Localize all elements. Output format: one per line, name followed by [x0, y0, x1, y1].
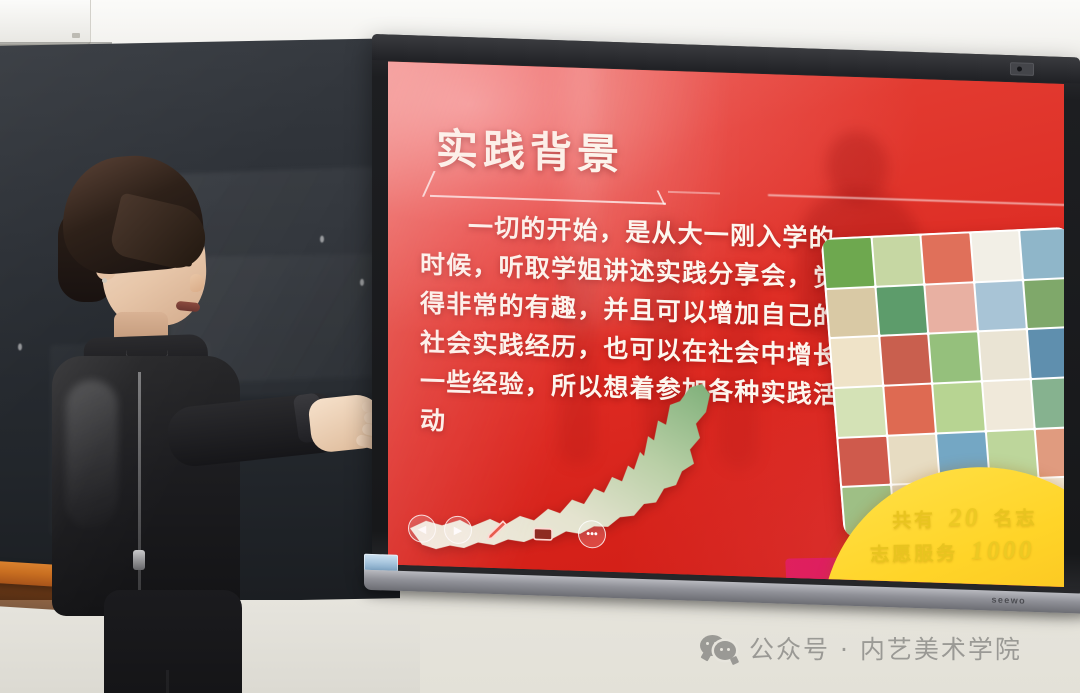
- interactive-smartboard[interactable]: 实践背景 一切的开始，是从大一刚入学的时候，听取学姐讲述实践分享会，觉得非常的有…: [372, 34, 1080, 617]
- wechat-icon: [700, 635, 740, 661]
- stat1-number: 20: [948, 502, 981, 532]
- slide-toolbar[interactable]: ◀ ▶ •••: [408, 512, 628, 553]
- chalk-mark: [360, 279, 364, 286]
- watermark-text: 公众号 · 内艺美术学院: [749, 630, 1022, 666]
- trousers: [104, 590, 242, 693]
- stat2-prefix: 志愿服务: [870, 543, 959, 566]
- play-button[interactable]: ▶: [444, 515, 472, 544]
- jacket-highlight: [66, 380, 118, 530]
- stat-line-1: 共有 20 名志: [891, 501, 1038, 534]
- pen-icon[interactable]: [482, 515, 512, 546]
- more-options-button[interactable]: •••: [578, 520, 606, 549]
- screenshot-root: 实践背景 一切的开始，是从大一刚入学的时候，听取学姐讲述实践分享会，觉得非常的有…: [0, 0, 1080, 693]
- nose: [190, 274, 204, 292]
- camera-icon: [1010, 62, 1034, 76]
- air-conditioner: [0, 0, 91, 46]
- presentation-slide[interactable]: 实践背景 一切的开始，是从大一刚入学的时候，听取学姐讲述实践分享会，觉得非常的有…: [388, 62, 1064, 587]
- trouser-seam: [166, 670, 169, 693]
- watermark: 公众号 · 内艺美术学院: [700, 630, 1022, 666]
- earring: [102, 278, 107, 283]
- presenter: [18, 150, 348, 693]
- zipper-pull: [133, 550, 145, 570]
- eraser-icon[interactable]: [528, 516, 558, 547]
- stat-line-2: 志愿服务 1000: [869, 535, 1040, 568]
- stat1-suffix: 名志: [993, 508, 1038, 530]
- stat2-number: 1000: [970, 535, 1035, 565]
- board-brand-logo: seewo: [991, 595, 1026, 606]
- jacket-zipper: [138, 372, 141, 610]
- previous-slide-button[interactable]: ◀: [408, 514, 436, 543]
- stat1-prefix: 共有: [892, 510, 937, 532]
